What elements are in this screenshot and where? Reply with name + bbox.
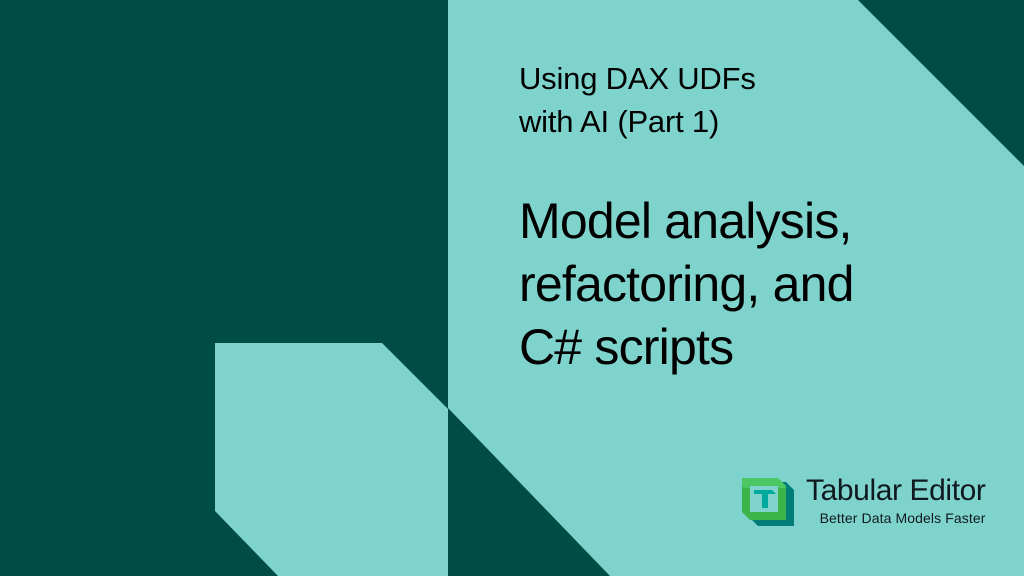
slide-eyebrow: Using DAX UDFs with AI (Part 1) — [519, 57, 756, 143]
slide-canvas: Using DAX UDFs with AI (Part 1) Model an… — [0, 0, 1024, 576]
logo-tagline: Better Data Models Faster — [820, 511, 986, 525]
tabular-editor-logo: Tabular Editor Better Data Models Faster — [742, 474, 986, 526]
slide-headline: Model analysis, refactoring, and C# scri… — [519, 190, 854, 379]
logo-wordmark: Tabular Editor Better Data Models Faster — [806, 476, 986, 525]
left-light-polygon — [215, 343, 448, 576]
tabular-editor-logo-mark-icon — [742, 474, 794, 526]
logo-product-name: Tabular Editor — [806, 476, 986, 506]
